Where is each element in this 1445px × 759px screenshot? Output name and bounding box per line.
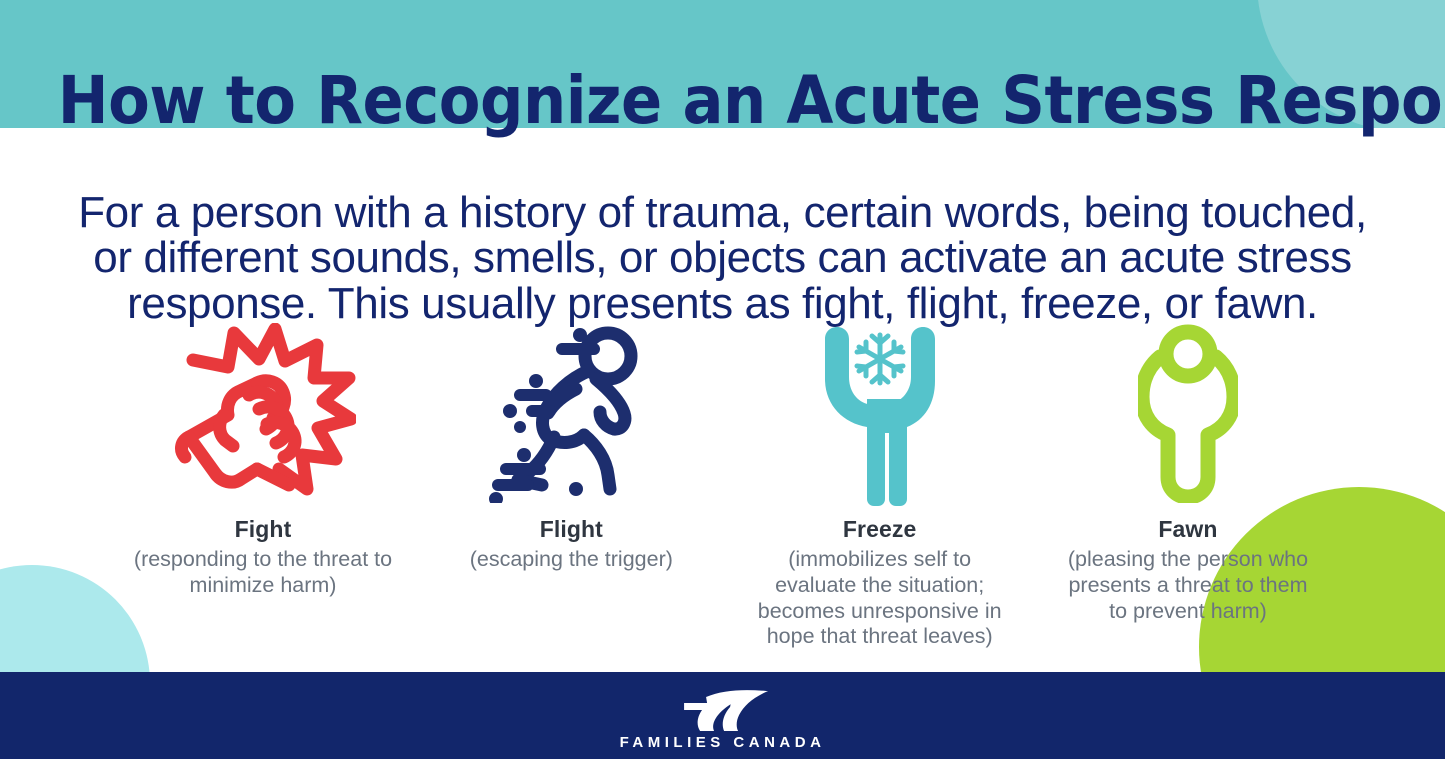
response-label-fight: Fight [235,516,292,543]
stress-response-list: Fight (responding to the threat to minim… [118,318,1333,650]
fist-starburst-icon [171,323,356,503]
response-item-flight: Flight (escaping the trigger) [426,318,716,573]
footer-logo-text: FAMILIES CANADA [620,734,826,751]
footer-logo: FAMILIES CANADA [620,689,826,751]
intro-paragraph: For a person with a history of trauma, c… [63,190,1383,326]
response-item-freeze: Freeze (immobilizes self to evaluate the… [735,318,1025,650]
page-title: How to Recognize an Acute Stress Respons… [58,62,1387,139]
response-description-freeze: (immobilizes self to evaluate the situat… [757,547,1002,650]
response-item-fight: Fight (responding to the threat to minim… [118,318,408,599]
response-label-flight: Flight [540,516,603,543]
person-arms-up-snowflake-icon [825,321,935,506]
fawn-icon-box [1138,318,1238,508]
response-description-fight: (responding to the threat to minimize ha… [131,547,396,599]
fight-icon-box [171,318,356,508]
response-description-fawn: (pleasing the person who presents a thre… [1065,547,1310,624]
response-label-fawn: Fawn [1158,516,1217,543]
double-swoosh-icon [677,689,769,733]
response-label-freeze: Freeze [843,516,916,543]
response-description-flight: (escaping the trigger) [470,547,673,573]
person-outline-icon [1138,323,1238,503]
response-item-fawn: Fawn (pleasing the person who presents a… [1043,318,1333,624]
freeze-icon-box [825,318,935,508]
flight-icon-box [484,318,659,508]
infographic-page: How to Recognize an Acute Stress Respons… [0,0,1445,759]
running-person-icon [484,323,659,503]
